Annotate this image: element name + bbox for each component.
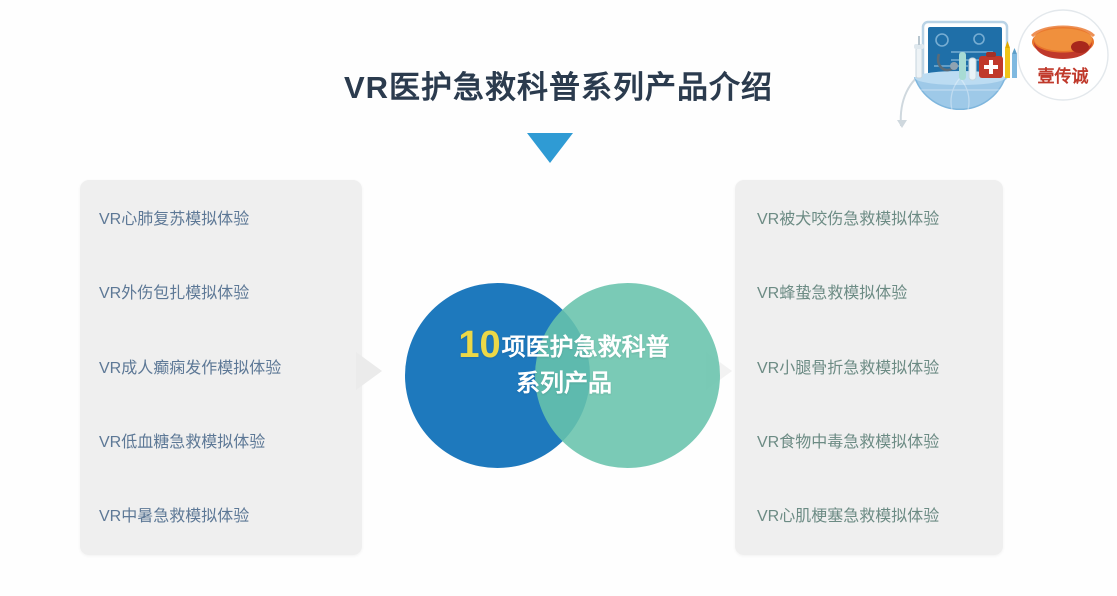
- medical-tablet-illustration: [893, 8, 1025, 136]
- arrow-right-icon: [356, 352, 382, 390]
- list-item[interactable]: VR小腿骨折急救模拟体验: [735, 359, 1003, 379]
- venn-label-line1: 项医护急救科普: [502, 334, 670, 361]
- triangle-down-icon: [527, 133, 573, 163]
- list-item[interactable]: VR心肺复苏模拟体验: [80, 210, 362, 230]
- list-item[interactable]: VR心肌梗塞急救模拟体验: [735, 507, 1003, 527]
- right-product-panel: VR被犬咬伤急救模拟体验 VR蜂蛰急救模拟体验 VR小腿骨折急救模拟体验 VR食…: [735, 180, 1003, 555]
- right-product-list: VR被犬咬伤急救模拟体验 VR蜂蛰急救模拟体验 VR小腿骨折急救模拟体验 VR食…: [735, 180, 1003, 555]
- left-product-list: VR心肺复苏模拟体验 VR外伤包扎模拟体验 VR成人癫痫发作模拟体验 VR低血糖…: [80, 180, 362, 555]
- list-item[interactable]: VR成人癫痫发作模拟体验: [80, 359, 362, 379]
- list-item[interactable]: VR食物中毒急救模拟体验: [735, 433, 1003, 453]
- slide-canvas: VR医护急救科普系列产品介绍 VR心肺复苏模拟体验 VR外伤包扎模拟体验 VR成…: [0, 0, 1117, 596]
- list-item[interactable]: VR蜂蛰急救模拟体验: [735, 284, 1003, 304]
- list-item[interactable]: VR低血糖急救模拟体验: [80, 433, 362, 453]
- yichuancheng-logo: 壹传诚: [1014, 6, 1112, 104]
- venn-label-line2: 系列产品: [516, 370, 612, 397]
- product-count: 10: [458, 324, 500, 366]
- list-item[interactable]: VR外伤包扎模拟体验: [80, 284, 362, 304]
- list-item[interactable]: VR中暑急救模拟体验: [80, 507, 362, 527]
- logo-text: 壹传诚: [1038, 66, 1089, 86]
- left-product-panel: VR心肺复苏模拟体验 VR外伤包扎模拟体验 VR成人癫痫发作模拟体验 VR低血糖…: [80, 180, 362, 555]
- list-item[interactable]: VR被犬咬伤急救模拟体验: [735, 210, 1003, 230]
- venn-center-label: 10项医护急救科普 系列产品: [423, 327, 705, 402]
- venn-diagram: 10项医护急救科普 系列产品: [405, 283, 720, 468]
